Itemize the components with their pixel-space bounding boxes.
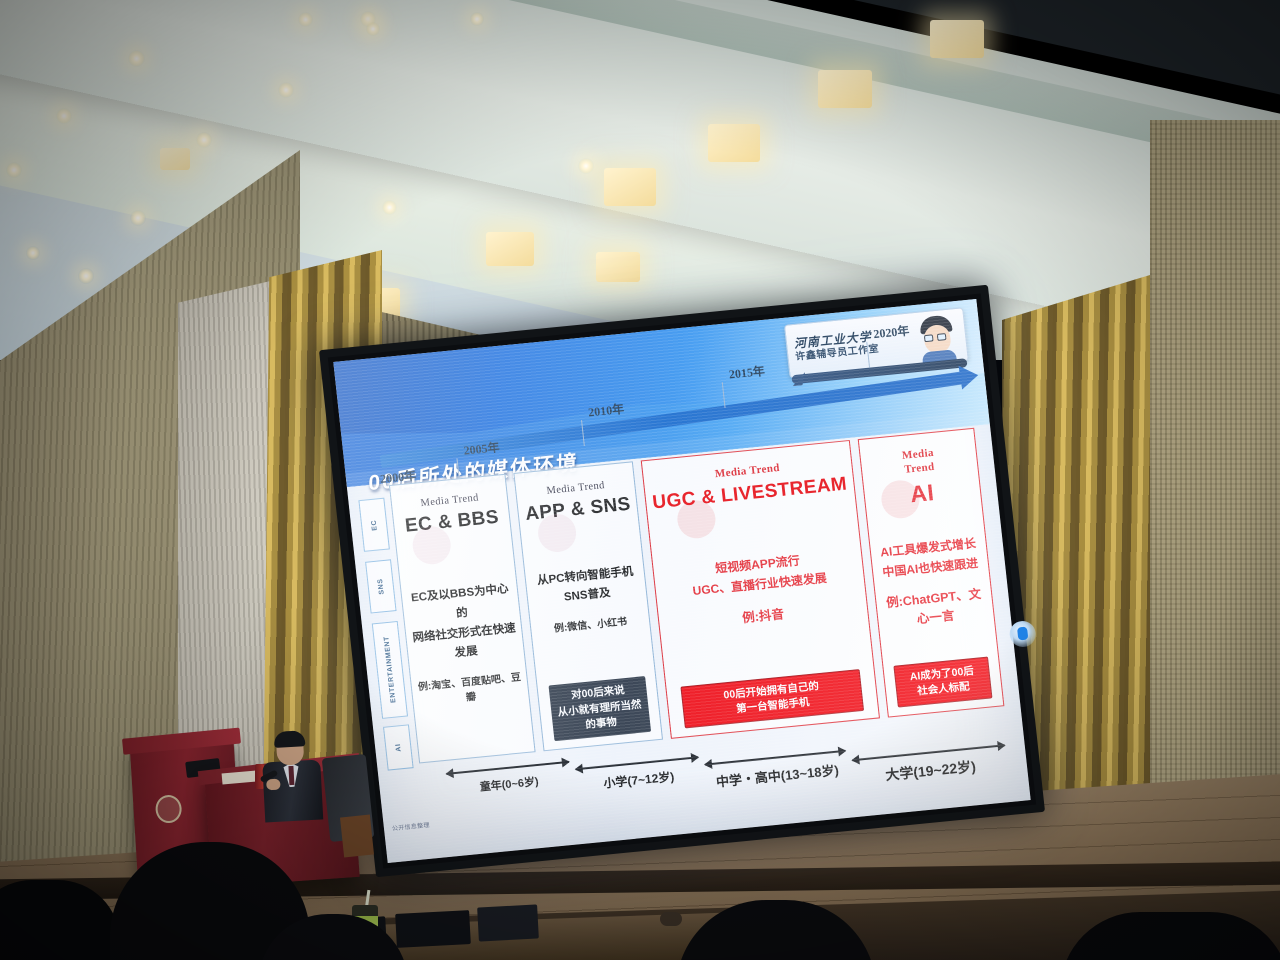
panel-light-icon <box>596 252 640 282</box>
rail-item-entertainment[interactable]: ENTERTAINMENT <box>372 621 408 719</box>
timeline-year-2: 2010年 <box>587 400 625 420</box>
downlight-icon <box>196 132 212 148</box>
downlight-icon <box>382 200 397 215</box>
led-screen[interactable]: 河南工业大学 许鑫辅导员工作室 00后所处的媒体环境 2000年2005年201… <box>319 285 1045 877</box>
downlight-icon <box>56 108 72 124</box>
mascot-avatar-icon <box>911 311 964 363</box>
column-example-text: 例:淘宝、百度贴吧、豆瓣 <box>417 668 523 708</box>
rail-item-label: AI <box>394 743 402 752</box>
column-body-text: 从PC转向智能手机 SNS普及 <box>536 562 636 610</box>
column-example-text: 例:抖音 <box>741 603 785 626</box>
rail-item-label: ENTERTAINMENT <box>383 636 397 703</box>
age-stage-1: 童年(0~6岁) <box>446 761 569 773</box>
downlight-icon <box>298 12 313 27</box>
rail-item-label: EC <box>370 519 378 531</box>
downlight-icon <box>26 246 40 260</box>
media-trend-column-4[interactable]: Media TrendAIAI工具爆发式增长 中国AI也快速跟进例:ChatGP… <box>857 428 1004 718</box>
age-stage-label: 中学・高中(13~18岁) <box>706 759 848 792</box>
media-trend-label: Media Trend <box>714 462 780 482</box>
column-callout-box: 对00后来说 从小就有理所当然的事物 <box>548 676 651 741</box>
panel-light-icon <box>486 232 534 266</box>
panel-light-icon <box>160 148 190 170</box>
auditorium-scene: 河南工业大学 许鑫辅导员工作室 00后所处的媒体环境 2000年2005年201… <box>0 0 1280 960</box>
column-callout-box: AI成为了00后 社会人标配 <box>893 656 992 707</box>
downlight-icon <box>366 22 380 36</box>
rail-item-sns[interactable]: SNS <box>365 559 396 613</box>
column-callout-box: 00后开始拥有自己的 第一台智能手机 <box>680 669 863 729</box>
timeline-year-3: 2015年 <box>728 362 766 382</box>
rail-item-ai[interactable]: AI <box>383 724 414 770</box>
downlight-icon <box>470 12 484 26</box>
timeline-year-1: 2005年 <box>463 438 501 458</box>
age-stage-4: 大学(19~22岁) <box>852 744 1004 759</box>
media-trend-column-3[interactable]: Media TrendUGC & LIVESTREAM短视频APP流行 UGC、… <box>641 440 880 739</box>
age-stage-label: 小学(7~12岁) <box>576 765 701 794</box>
age-stage-label: 童年(0~6岁) <box>447 770 572 798</box>
speaker-person <box>260 732 324 821</box>
age-stage-3: 中学・高中(13~18岁) <box>705 750 845 764</box>
media-trend-label: Media Trend <box>901 447 936 477</box>
audience-device <box>477 904 539 941</box>
media-trend-columns: Media TrendEC & BBSEC及以BBS为中心的 网络社交形式在快速… <box>389 428 1004 764</box>
downlight-icon <box>278 82 294 98</box>
downlight-icon <box>578 158 594 174</box>
column-body-text: 短视频APP流行 UGC、直播行业快速发展 <box>689 548 827 602</box>
audience-device <box>395 910 471 948</box>
presentation-slide: 河南工业大学 许鑫辅导员工作室 00后所处的媒体环境 2000年2005年201… <box>333 299 1030 863</box>
downlight-icon <box>128 50 145 67</box>
column-example-text: 例:微信、小红书 <box>553 612 628 634</box>
chair-seat <box>340 815 374 858</box>
panel-light-icon <box>708 124 760 162</box>
column-body-text: EC及以BBS为中心的 网络社交形式在快速发展 <box>407 580 518 668</box>
media-trend-column-1[interactable]: Media TrendEC & BBSEC及以BBS为中心的 网络社交形式在快速… <box>389 474 536 764</box>
rail-item-ec[interactable]: EC <box>358 498 389 552</box>
panel-light-icon <box>818 70 872 108</box>
column-heading: UGC & LIVESTREAM <box>651 473 848 514</box>
panel-light-icon <box>930 20 984 58</box>
panel-light-icon <box>604 168 656 206</box>
downlight-icon <box>6 162 22 178</box>
column-example-text: 例:ChatGPT、文心一言 <box>881 583 988 631</box>
media-trend-column-2[interactable]: Media TrendAPP & SNS从PC转向智能手机 SNS普及例:微信、… <box>514 461 663 751</box>
downlight-icon <box>78 268 94 284</box>
timeline-year-4: 2020年 <box>872 322 910 342</box>
rail-item-label: SNS <box>376 578 385 595</box>
media-trend-label: Media Trend <box>420 491 480 510</box>
column-body-text: AI工具爆发式增长 中国AI也快速跟进 <box>879 533 979 583</box>
podium-emblem-icon <box>155 794 183 824</box>
downlight-icon <box>130 210 146 226</box>
age-stage-2: 小学(7~12岁) <box>575 756 698 768</box>
computer-mouse <box>660 912 682 926</box>
media-trend-label: Media Trend <box>546 479 606 498</box>
